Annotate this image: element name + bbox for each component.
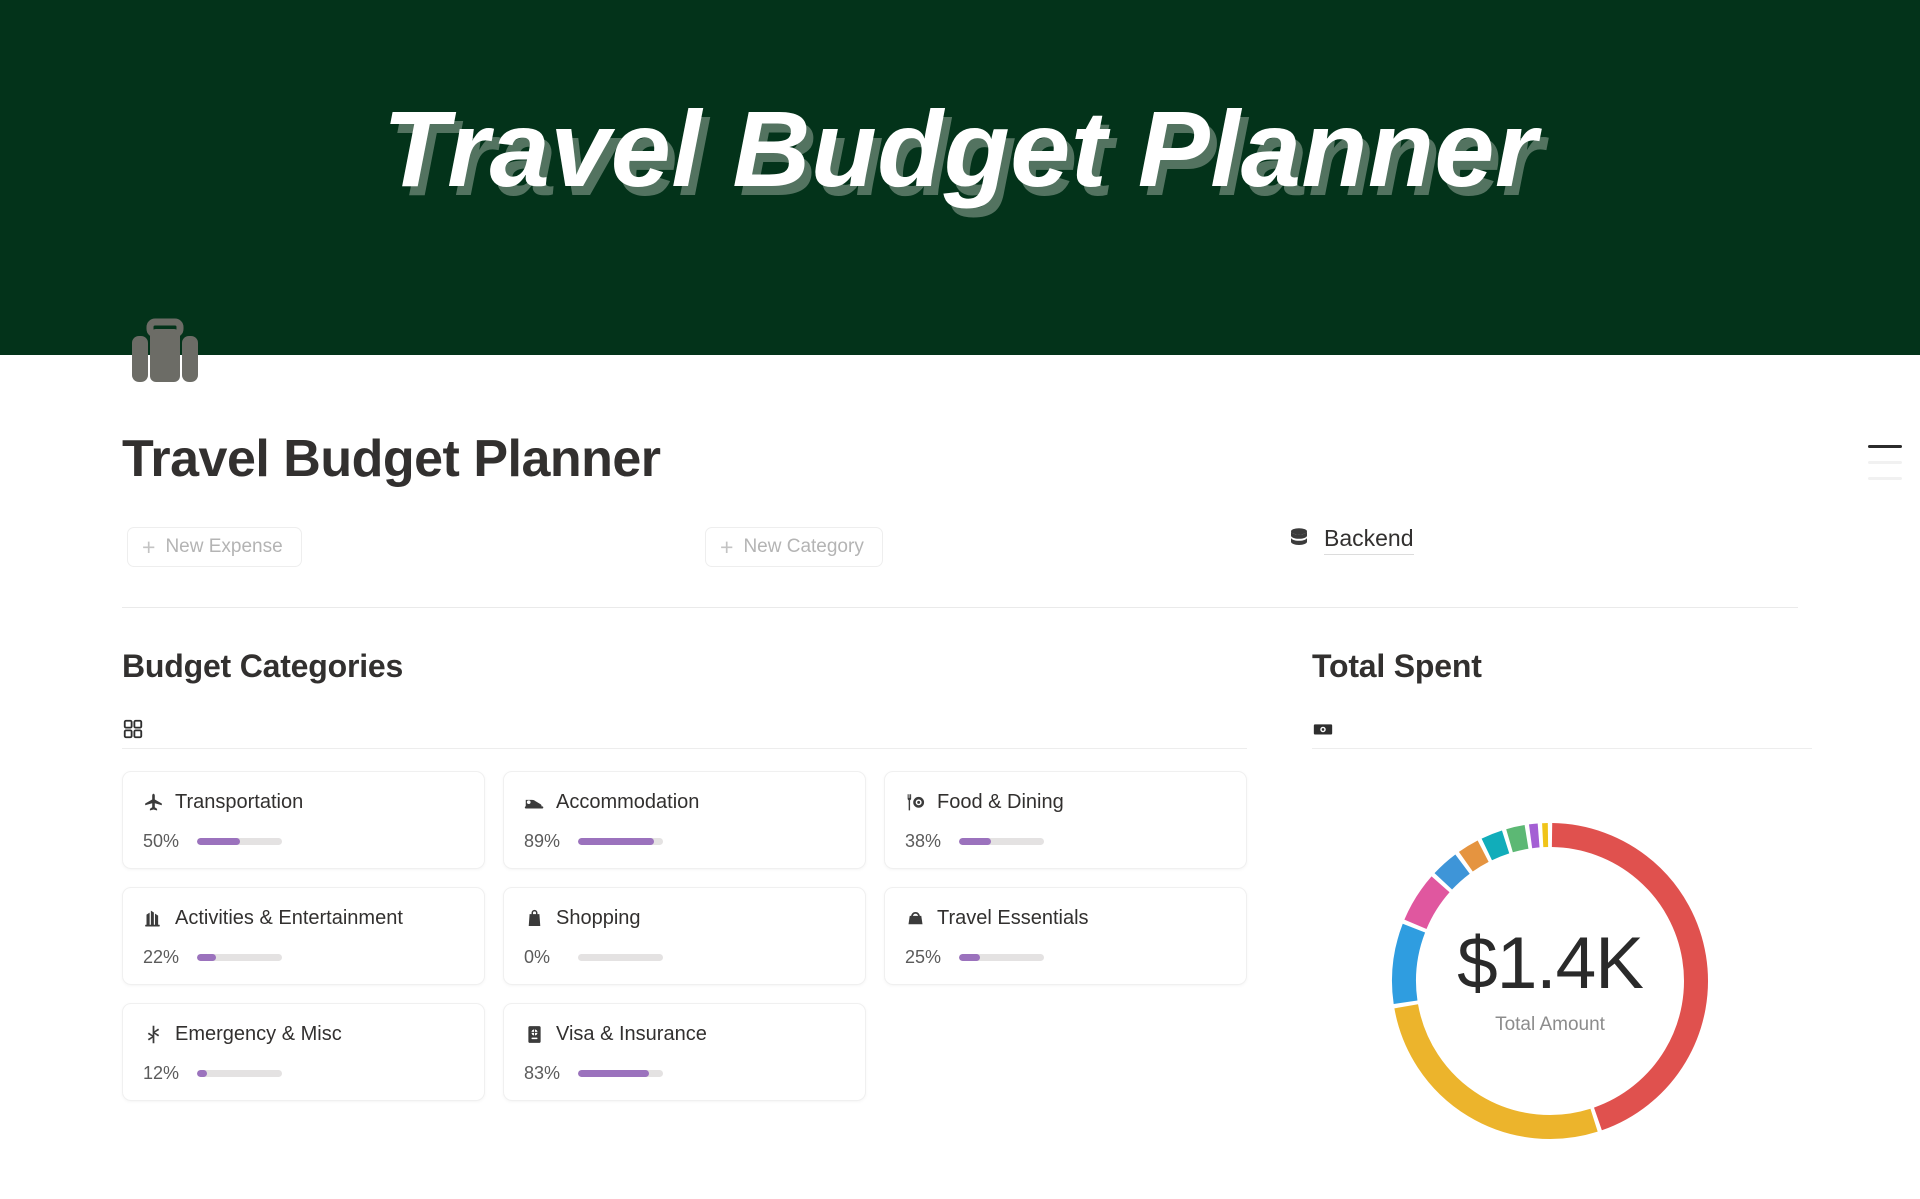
category-progress: 50% bbox=[143, 831, 464, 852]
banknote-icon[interactable] bbox=[1312, 718, 1334, 740]
category-card[interactable]: Activities & Entertainment22% bbox=[122, 887, 485, 985]
budget-categories-section: Budget Categories Transportation50%Accom… bbox=[122, 648, 1247, 1151]
new-expense-button[interactable]: + New Expense bbox=[127, 527, 302, 567]
category-card-list: Transportation50%Accommodation89%Food & … bbox=[122, 771, 1247, 1101]
total-spent-heading: Total Spent bbox=[1312, 648, 1812, 685]
category-card-head: Visa & Insurance bbox=[524, 1023, 845, 1046]
ticket-icon bbox=[143, 908, 164, 929]
category-progress-fill bbox=[578, 838, 654, 845]
handbag-icon bbox=[905, 908, 926, 929]
category-name: Travel Essentials bbox=[937, 907, 1089, 930]
category-card[interactable]: Travel Essentials25% bbox=[884, 887, 1247, 985]
category-progress-fill bbox=[197, 838, 240, 845]
category-name: Emergency & Misc bbox=[175, 1023, 342, 1046]
donut-segment[interactable] bbox=[1443, 864, 1462, 881]
donut-segment[interactable] bbox=[1406, 1006, 1594, 1127]
category-name: Shopping bbox=[556, 907, 641, 930]
total-spent-donut-chart: $1.4K Total Amount bbox=[1312, 811, 1812, 1151]
category-progress-bar bbox=[197, 1070, 282, 1077]
banner-title: Travel Budget Planner bbox=[0, 92, 1920, 205]
category-card[interactable]: Accommodation89% bbox=[503, 771, 866, 869]
page-content: Travel Budget Planner + New Expense + Ne… bbox=[0, 429, 1920, 1151]
category-progress-bar bbox=[197, 838, 282, 845]
category-percent-label: 25% bbox=[905, 947, 947, 968]
category-card-head: Travel Essentials bbox=[905, 907, 1226, 930]
backend-label: Backend bbox=[1324, 525, 1414, 555]
cutlery-icon bbox=[905, 792, 926, 813]
category-card[interactable]: Food & Dining38% bbox=[884, 771, 1247, 869]
toolbar-divider bbox=[122, 607, 1798, 608]
category-percent-label: 0% bbox=[524, 947, 566, 968]
main-columns: Budget Categories Transportation50%Accom… bbox=[122, 648, 1798, 1151]
database-icon bbox=[1287, 526, 1311, 555]
page-title: Travel Budget Planner bbox=[122, 429, 1798, 489]
category-progress-fill bbox=[959, 954, 980, 961]
category-percent-label: 89% bbox=[524, 831, 566, 852]
total-spent-view-row[interactable] bbox=[1312, 709, 1812, 749]
category-card[interactable]: Shopping0% bbox=[503, 887, 866, 985]
toolbar: + New Expense + New Category Backend bbox=[122, 527, 1798, 571]
plus-icon: + bbox=[142, 536, 155, 559]
new-expense-label: New Expense bbox=[165, 536, 282, 558]
category-card-head: Food & Dining bbox=[905, 791, 1226, 814]
bed-icon bbox=[524, 792, 545, 813]
category-progress-fill bbox=[959, 838, 991, 845]
donut-segment[interactable] bbox=[1552, 835, 1696, 1119]
category-card-head: Activities & Entertainment bbox=[143, 907, 464, 930]
category-progress-bar bbox=[578, 1070, 663, 1077]
category-percent-label: 12% bbox=[143, 1063, 185, 1084]
backend-link[interactable]: Backend bbox=[1287, 525, 1414, 555]
suitcase-icon[interactable] bbox=[128, 312, 202, 386]
category-name: Transportation bbox=[175, 791, 303, 814]
category-card[interactable]: Emergency & Misc12% bbox=[122, 1003, 485, 1101]
donut-segment[interactable] bbox=[1531, 835, 1539, 836]
budget-categories-view-row[interactable] bbox=[122, 709, 1247, 749]
category-name: Activities & Entertainment bbox=[175, 907, 403, 930]
donut-svg[interactable] bbox=[1380, 811, 1720, 1151]
category-progress-bar bbox=[197, 954, 282, 961]
budget-categories-heading: Budget Categories bbox=[122, 648, 1247, 685]
category-progress: 22% bbox=[143, 947, 464, 968]
donut-segment[interactable] bbox=[1404, 928, 1414, 1002]
cover-banner: Travel Budget Planner bbox=[0, 0, 1920, 355]
category-progress-fill bbox=[578, 1070, 649, 1077]
category-percent-label: 50% bbox=[143, 831, 185, 852]
category-progress-fill bbox=[197, 1070, 207, 1077]
category-progress-bar bbox=[959, 954, 1044, 961]
passport-icon bbox=[524, 1024, 545, 1045]
category-progress: 38% bbox=[905, 831, 1226, 852]
asterisk-icon bbox=[143, 1024, 164, 1045]
category-progress-bar bbox=[959, 838, 1044, 845]
donut-segment[interactable] bbox=[1466, 851, 1483, 861]
new-category-button[interactable]: + New Category bbox=[705, 527, 883, 567]
category-progress-fill bbox=[197, 954, 216, 961]
category-percent-label: 83% bbox=[524, 1063, 566, 1084]
shopping-bag-icon bbox=[524, 908, 545, 929]
category-card[interactable]: Visa & Insurance83% bbox=[503, 1003, 866, 1101]
category-progress-bar bbox=[578, 954, 663, 961]
category-progress: 83% bbox=[524, 1063, 845, 1084]
category-card-head: Emergency & Misc bbox=[143, 1023, 464, 1046]
category-card-head: Transportation bbox=[143, 791, 464, 814]
category-percent-label: 38% bbox=[905, 831, 947, 852]
category-progress: 89% bbox=[524, 831, 845, 852]
donut-segment[interactable] bbox=[1415, 884, 1440, 924]
new-category-label: New Category bbox=[743, 536, 863, 558]
plus-icon: + bbox=[720, 536, 733, 559]
category-card-head: Accommodation bbox=[524, 791, 845, 814]
airplane-icon bbox=[143, 792, 164, 813]
category-percent-label: 22% bbox=[143, 947, 185, 968]
category-card-head: Shopping bbox=[524, 907, 845, 930]
category-progress-bar bbox=[578, 838, 663, 845]
category-progress: 25% bbox=[905, 947, 1226, 968]
donut-segment[interactable] bbox=[1487, 842, 1506, 849]
category-name: Visa & Insurance bbox=[556, 1023, 707, 1046]
total-spent-section: Total Spent $1.4K Total Amount bbox=[1312, 648, 1812, 1151]
donut-segment[interactable] bbox=[1510, 837, 1527, 841]
category-card[interactable]: Transportation50% bbox=[122, 771, 485, 869]
category-progress: 12% bbox=[143, 1063, 464, 1084]
category-progress: 0% bbox=[524, 947, 845, 968]
gallery-grid-icon[interactable] bbox=[122, 718, 144, 740]
category-name: Accommodation bbox=[556, 791, 699, 814]
category-name: Food & Dining bbox=[937, 791, 1064, 814]
